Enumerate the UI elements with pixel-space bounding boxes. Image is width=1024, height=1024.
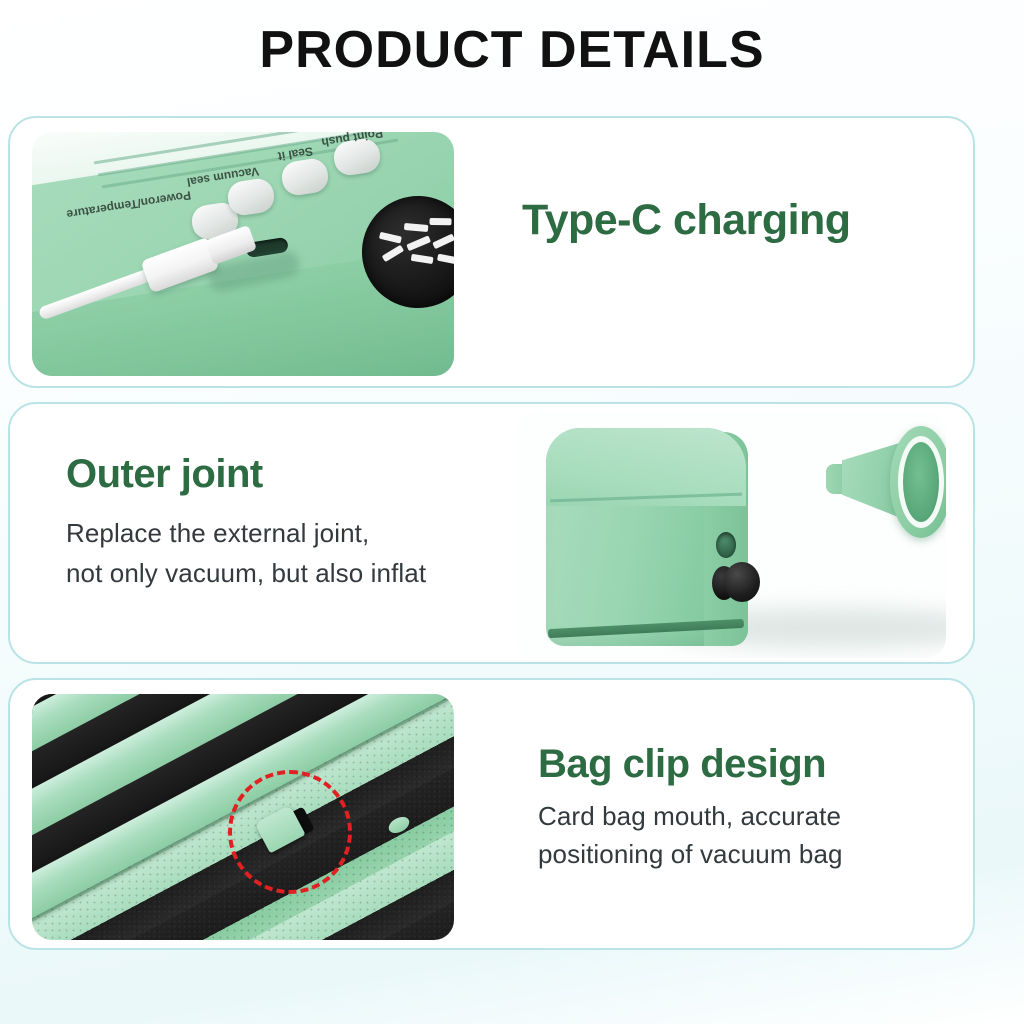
panel-text-type-c-charging: Type-C charging: [522, 196, 851, 245]
panel-body-line-2: positioning of vacuum bag: [538, 835, 843, 873]
panel-heading-outer-joint: Outer joint: [66, 452, 426, 497]
highlight-circle-icon: [228, 770, 352, 894]
panel-type-c-charging[interactable]: Poweron/Temperature Vacuum seal Seal it …: [8, 116, 975, 388]
nozzle-hole: [716, 532, 736, 558]
nozzle-plug: [724, 562, 760, 602]
panel-text-bag-clip-design: Bag clip design Card bag mouth, accurate…: [538, 742, 843, 873]
panel-text-outer-joint: Outer joint Replace the external joint, …: [66, 452, 426, 593]
page-title: PRODUCT DETAILS: [0, 20, 1024, 80]
panel-heading-type-c-charging: Type-C charging: [522, 196, 851, 245]
panel-body-line-1: Replace the external joint,: [66, 513, 426, 553]
panel-bag-clip-design[interactable]: Bag clip design Card bag mouth, accurate…: [8, 678, 975, 950]
product-image-type-c-charging: Poweron/Temperature Vacuum seal Seal it …: [32, 132, 454, 376]
panel-outer-joint[interactable]: Outer joint Replace the external joint, …: [8, 402, 975, 664]
panel-body-line-1: Card bag mouth, accurate: [538, 797, 843, 835]
product-image-outer-joint: [516, 412, 946, 658]
panel-body-line-2: not only vacuum, but also inflat: [66, 553, 426, 593]
panel-heading-bag-clip-design: Bag clip design: [538, 742, 843, 787]
product-image-bag-clip-design: [32, 694, 454, 940]
